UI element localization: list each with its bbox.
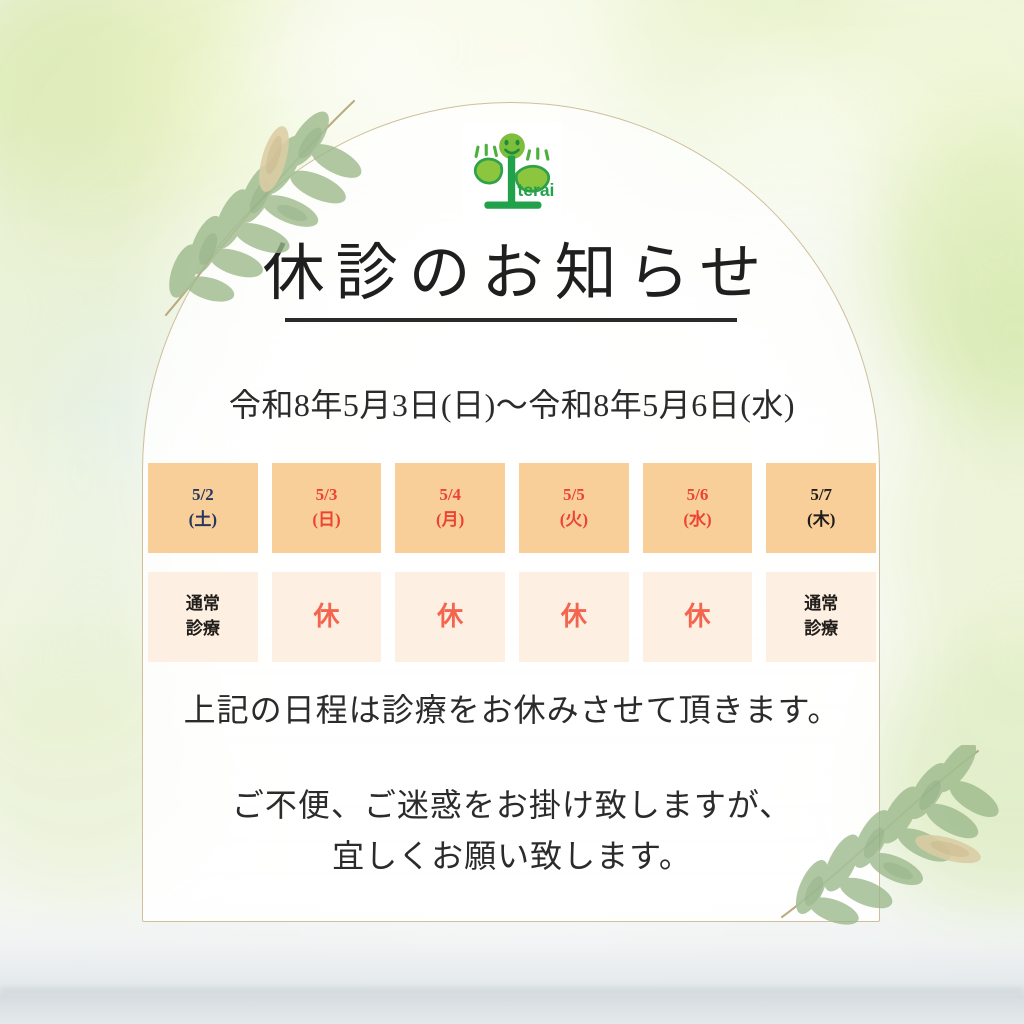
calendar-date-cell: 5/4 (月) bbox=[395, 463, 505, 553]
calendar-status-cell: 通常 診療 bbox=[148, 572, 258, 662]
calendar-date: 5/6 bbox=[687, 483, 709, 508]
calendar-status-line1: 通常 bbox=[186, 592, 220, 617]
calendar-date: 5/3 bbox=[316, 483, 338, 508]
calendar-status-line1: 通常 bbox=[804, 592, 838, 617]
notice-closing-text: ご不便、ご迷惑をお掛け致しますが、 宜しくお願い致します。 bbox=[0, 780, 1024, 881]
calendar-status-line1: 休 bbox=[437, 598, 463, 636]
calendar-date-cell: 5/6 (水) bbox=[643, 463, 753, 553]
notice-closing-line-1: ご不便、ご迷惑をお掛け致しますが、 bbox=[0, 780, 1024, 831]
calendar-weekday: (土) bbox=[189, 508, 217, 533]
clinic-logo: terai bbox=[462, 122, 562, 222]
calendar-date-cell: 5/5 (火) bbox=[519, 463, 629, 553]
calendar-date: 5/7 bbox=[810, 483, 832, 508]
calendar-weekday: (火) bbox=[560, 508, 588, 533]
closure-calendar: 5/2 (土) 5/3 (日) 5/4 (月) 5/5 (火) 5/6 (水) … bbox=[148, 463, 876, 662]
calendar-date: 5/5 bbox=[563, 483, 585, 508]
calendar-status-cell: 休 bbox=[272, 572, 382, 662]
notice-main-text: 上記の日程は診療をお休みさせて頂きます。 bbox=[0, 685, 1024, 731]
calendar-date-cell: 5/3 (日) bbox=[272, 463, 382, 553]
background-shelf-edge bbox=[0, 988, 1024, 996]
logo-wordmark: terai bbox=[518, 180, 555, 200]
calendar-weekday: (月) bbox=[436, 508, 464, 533]
closure-date-range: 令和8年5月3日(日)〜令和8年5月6日(水) bbox=[0, 385, 1024, 425]
calendar-status-line1: 休 bbox=[561, 598, 587, 636]
calendar-date: 5/4 bbox=[439, 483, 461, 508]
calendar-date: 5/2 bbox=[192, 483, 214, 508]
calendar-weekday: (日) bbox=[312, 508, 340, 533]
calendar-status-line1: 休 bbox=[685, 598, 711, 636]
calendar-weekday: (木) bbox=[807, 508, 835, 533]
calendar-status-row: 通常 診療 休 休 休 休 通常 診療 bbox=[148, 572, 876, 662]
calendar-date-cell: 5/7 (木) bbox=[766, 463, 876, 553]
title-underline bbox=[285, 318, 737, 322]
calendar-status-cell: 休 bbox=[519, 572, 629, 662]
calendar-status-cell: 通常 診療 bbox=[766, 572, 876, 662]
calendar-date-cell: 5/2 (土) bbox=[148, 463, 258, 553]
calendar-status-line2: 診療 bbox=[186, 617, 220, 642]
page-title: 休診のお知らせ bbox=[0, 243, 1024, 305]
calendar-status-cell: 休 bbox=[643, 572, 753, 662]
notice-closing-line-2: 宜しくお願い致します。 bbox=[0, 831, 1024, 882]
calendar-weekday: (水) bbox=[683, 508, 711, 533]
calendar-status-line1: 休 bbox=[314, 598, 340, 636]
calendar-header-row: 5/2 (土) 5/3 (日) 5/4 (月) 5/5 (火) 5/6 (水) … bbox=[148, 463, 876, 553]
calendar-status-line2: 診療 bbox=[804, 617, 838, 642]
notice-poster: terai 休診のお知らせ 令和8年5月3日(日)〜令和8年5月6日(水) 5/… bbox=[0, 0, 1024, 1024]
calendar-status-cell: 休 bbox=[395, 572, 505, 662]
